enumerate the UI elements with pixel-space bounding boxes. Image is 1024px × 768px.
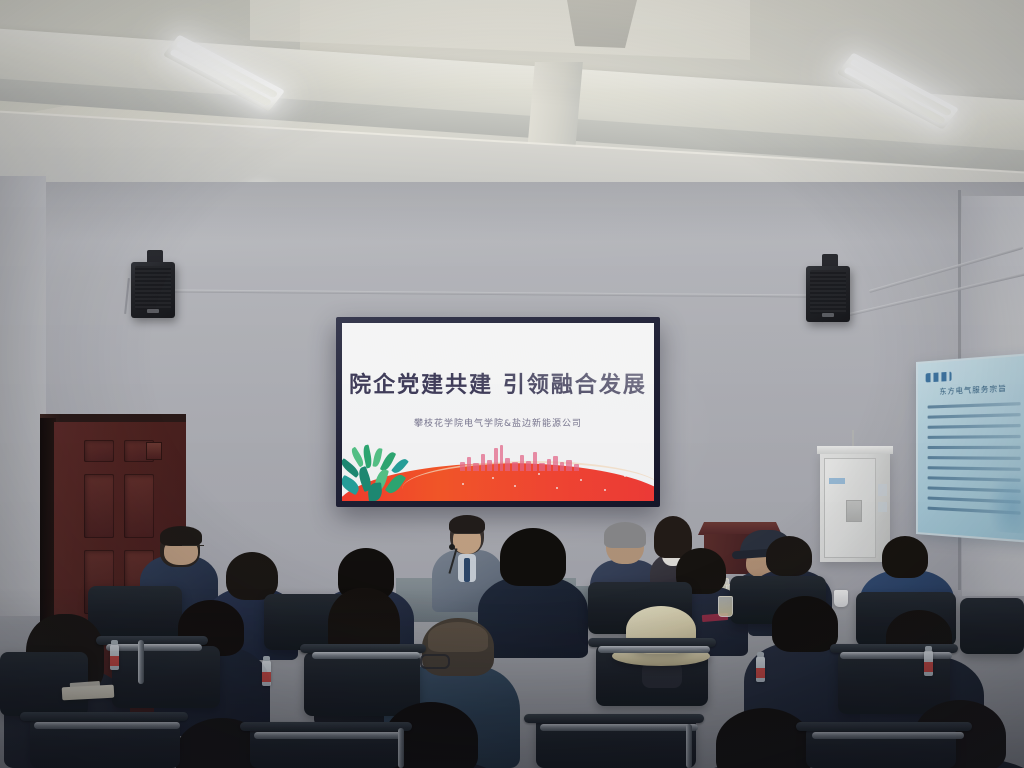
water-bottle-4[interactable] — [924, 650, 933, 676]
gray-haired-man-hair — [604, 522, 646, 548]
conference-chair-a1[interactable] — [88, 586, 182, 640]
slide-foliage — [344, 445, 454, 501]
chair-chrome-7 — [540, 724, 698, 731]
slide-title: 院企党建共建 引领融合发展 — [342, 367, 654, 399]
cabinet-label-3 — [878, 502, 887, 512]
chair-post-2 — [398, 728, 404, 768]
chair-chrome-4 — [840, 652, 952, 659]
conference-chair-b1[interactable] — [112, 646, 220, 708]
speaker-tie — [464, 558, 470, 582]
water-bottle-3[interactable] — [756, 656, 765, 682]
chair-post-3 — [686, 724, 692, 768]
slide-artwork — [342, 443, 654, 501]
poster-illustration — [987, 471, 1024, 534]
door-plate — [146, 442, 162, 460]
chair-chrome-8 — [812, 732, 964, 739]
chair-arm-6 — [240, 722, 412, 731]
slide-subtitle: 攀枝花学院电气学院&盐边新能源公司 — [342, 416, 654, 429]
water-bottle-2[interactable] — [262, 660, 271, 686]
electrical-cabinet — [820, 452, 890, 562]
speaker-body-left — [131, 262, 175, 318]
door-panel-4 — [124, 474, 154, 538]
microphone-head — [449, 544, 455, 550]
door-panel-1 — [84, 440, 114, 462]
chair-chrome-3 — [598, 646, 710, 653]
door-panel-3 — [84, 474, 114, 538]
chair-arm-8 — [796, 722, 972, 731]
speaker-grille-right — [810, 270, 846, 314]
cabinet-access-panel — [846, 500, 862, 522]
chair-arm-5 — [20, 712, 188, 721]
wall-information-board: 东方电气服务宗旨 — [916, 353, 1024, 543]
speaker-logo-right — [822, 313, 834, 317]
slide-city-skyline — [460, 445, 580, 471]
led-display-screen: 院企党建共建 引领融合发展 攀枝花学院电气学院&盐边新能源公司 — [342, 323, 654, 501]
chair-chrome-6 — [254, 732, 404, 739]
conference-chair-a6[interactable] — [960, 598, 1024, 654]
speaker-logo-left — [147, 309, 159, 313]
chair-arm-7 — [524, 714, 704, 723]
ceiling-beam-drop-upper — [567, 0, 637, 48]
poster-logo — [926, 372, 952, 383]
speaker-glasses — [454, 533, 480, 539]
wall-top-shadow — [0, 182, 1024, 242]
chair-chrome-1 — [106, 644, 202, 651]
paper-cup-2 — [834, 590, 848, 607]
cabinet-label-1 — [829, 478, 845, 484]
tea-glass-row — [718, 596, 733, 617]
speaker-grille-left — [135, 266, 171, 310]
conference-chair-b2[interactable] — [304, 652, 420, 716]
water-bottle-1[interactable] — [110, 644, 119, 670]
chair-chrome-2 — [312, 652, 420, 659]
speaker-body-right — [806, 266, 850, 322]
cabinet-label-2 — [878, 484, 887, 496]
chair-chrome-5 — [34, 722, 180, 729]
led-display-frame: 院企党建共建 引领融合发展 攀枝花学院电气学院&盐边新能源公司 — [336, 317, 660, 507]
cabinet-top — [817, 446, 893, 454]
chair-post-1 — [138, 640, 144, 684]
poster-heading: 东方电气服务宗旨 — [918, 382, 1024, 398]
speaker-hair — [449, 515, 485, 534]
conference-chair-b4[interactable] — [838, 650, 950, 714]
conference-room-photo: 院企党建共建 引领融合发展 攀枝花学院电气学院&盐边新能源公司 — [0, 0, 1024, 768]
